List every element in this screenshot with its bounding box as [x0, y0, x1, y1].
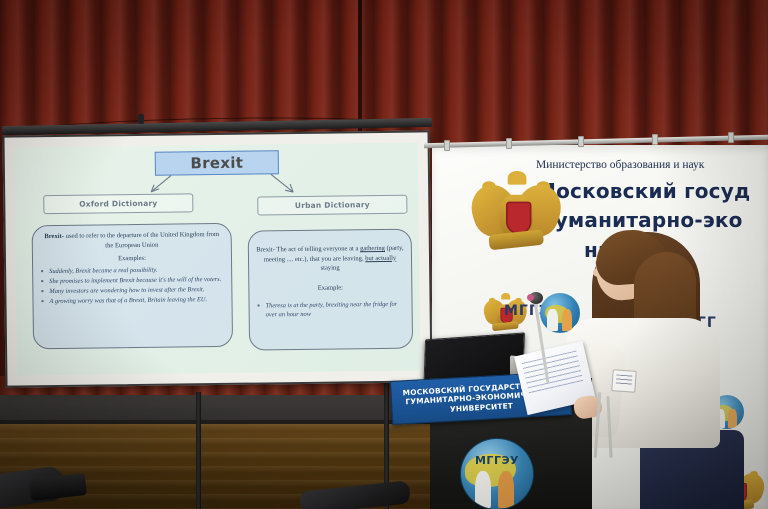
- urban-definition-part1: Brexit- The act of telling everyone at a: [256, 245, 360, 253]
- banner-clip: [444, 140, 450, 151]
- banner-clip: [652, 134, 658, 145]
- urban-definition: Brexit- The act of telling everyone at a…: [249, 230, 412, 275]
- urban-definition-part3: staying: [321, 265, 340, 272]
- urban-definition-link-but-actually: but actually: [365, 254, 396, 261]
- list-item: Theresa is at the party, brexiting near …: [266, 299, 406, 319]
- list-item: A growing worry was that of a Brexit, Br…: [49, 295, 225, 306]
- podium-logo-abbr: МГГЭУ: [461, 454, 533, 467]
- speaker-name-badge: [611, 369, 636, 393]
- slide-title-text: Brexit: [190, 154, 243, 173]
- oxford-example-list: Suddenly, Brexit became a real possibili…: [33, 265, 231, 307]
- screen-bar-clip: [138, 114, 144, 124]
- oxford-definition: Brexit- used to refer to the departure o…: [33, 224, 231, 252]
- urban-example-list: Theresa is at the party, brexiting near …: [250, 299, 412, 319]
- microphone-windscreen: [527, 294, 534, 301]
- banner-clip: [578, 136, 584, 147]
- stage-post-left: [196, 392, 201, 509]
- oxford-examples-label: Examples:: [33, 249, 231, 263]
- urban-examples-label: Example:: [249, 272, 411, 292]
- slide-title-box: Brexit: [155, 150, 279, 176]
- definition-box-urban: Brexit- The act of telling everyone at a…: [248, 229, 413, 351]
- source-label-urban: Urban Dictionary: [295, 200, 370, 210]
- projection-screen: Brexit Oxford Dictionary Urban Dictionar…: [2, 130, 432, 387]
- oxford-definition-text: used to refer to the departure of the Un…: [64, 231, 219, 249]
- arrow-to-urban-icon: [267, 172, 339, 199]
- definition-box-oxford: Brexit- used to refer to the departure o…: [32, 223, 233, 349]
- source-box-urban: Urban Dictionary: [257, 195, 407, 216]
- banner-ministry-line: Министерство образования и наук: [536, 159, 768, 171]
- urban-definition-link-gathering: gathering: [360, 245, 385, 252]
- photo-scene: Brexit Oxford Dictionary Urban Dictionar…: [0, 0, 768, 509]
- oxford-term: Brexit-: [44, 233, 64, 240]
- presentation-slide: Brexit Oxford Dictionary Urban Dictionar…: [15, 143, 421, 376]
- source-label-oxford: Oxford Dictionary: [79, 199, 157, 209]
- banner-clip: [728, 132, 734, 143]
- source-box-oxford: Oxford Dictionary: [43, 193, 193, 214]
- banner-university-line2: гуманитарно-эко: [544, 208, 743, 232]
- banner-clip: [506, 138, 512, 149]
- podium-university-logo-icon: МГГЭУ: [460, 438, 534, 509]
- banner-university-line1: Московский госуд: [536, 179, 750, 203]
